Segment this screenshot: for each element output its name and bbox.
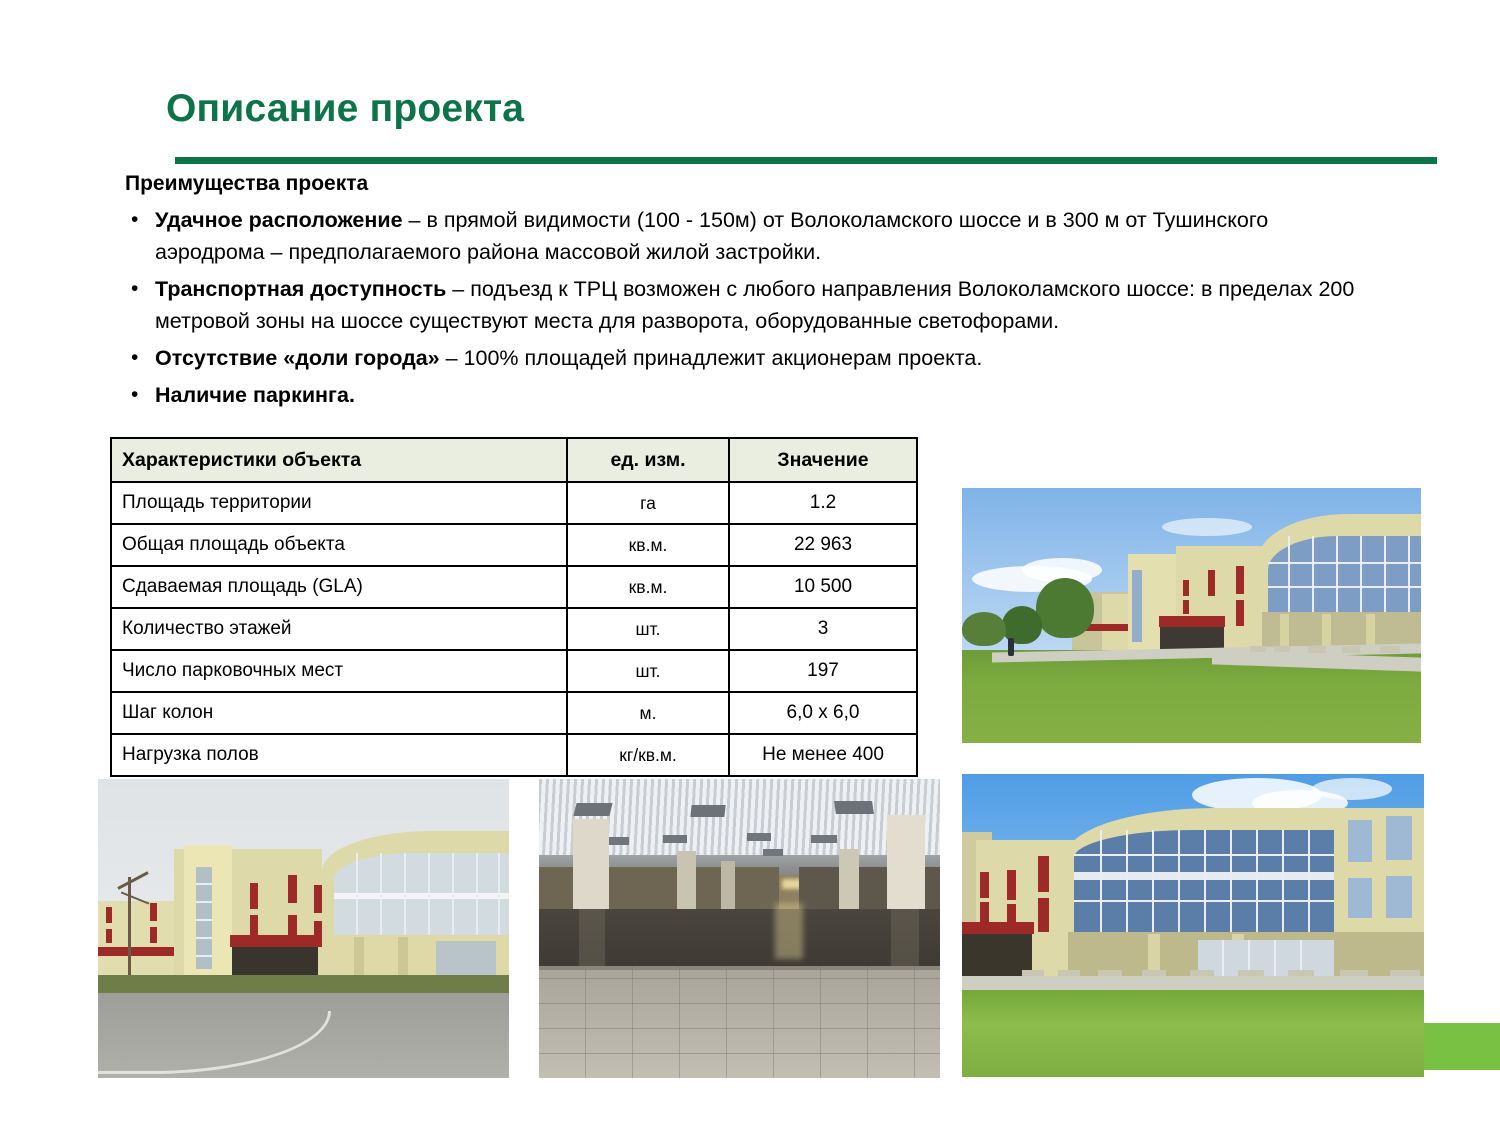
- table-row: Общая площадь объекта кв.м. 22 963: [111, 524, 917, 566]
- list-item: • Наличие паркинга.: [125, 379, 1355, 411]
- photo-interior-hall: [539, 779, 940, 1078]
- cell-value: 1.2: [729, 482, 917, 524]
- bullet-marker-icon: •: [125, 204, 155, 236]
- photo-exterior-front-summer: [962, 774, 1424, 1077]
- list-item: • Отсутствие «доли города» – 100% площад…: [125, 342, 1355, 374]
- cell-characteristic: Сдаваемая площадь (GLA): [111, 566, 567, 608]
- bullet-lead: Удачное расположение: [155, 208, 403, 232]
- cell-value: Не менее 400: [729, 734, 917, 776]
- slide-root: Описание проекта Преимущества проекта • …: [0, 0, 1500, 1125]
- cell-characteristic: Шаг колон: [111, 692, 567, 734]
- table-row: Число парковочных мест шт. 197: [111, 650, 917, 692]
- cell-unit: га: [567, 482, 729, 524]
- cell-unit: кв.м.: [567, 566, 729, 608]
- bullet-text: Отсутствие «доли города» – 100% площадей…: [155, 342, 1355, 374]
- cell-value: 22 963: [729, 524, 917, 566]
- title-underline-rule: [175, 157, 1437, 164]
- cell-value: 197: [729, 650, 917, 692]
- cell-unit: шт.: [567, 650, 729, 692]
- bullet-lead: Наличие паркинга.: [155, 383, 355, 407]
- bullet-lead: Транспортная доступность: [155, 277, 446, 301]
- cell-characteristic: Площадь территории: [111, 482, 567, 524]
- bullet-text: Наличие паркинга.: [155, 379, 1355, 411]
- table-row: Количество этажей шт. 3: [111, 608, 917, 650]
- cell-unit: кг/кв.м.: [567, 734, 729, 776]
- table-header-row: Характеристики объекта ед. изм. Значение: [111, 438, 917, 482]
- bullet-lead: Отсутствие «доли города»: [155, 346, 440, 370]
- cell-characteristic: Нагрузка полов: [111, 734, 567, 776]
- photo-exterior-side-summer: [962, 488, 1421, 743]
- cell-unit: кв.м.: [567, 524, 729, 566]
- section-subheading: Преимущества проекта: [125, 172, 368, 196]
- bullet-text: Транспортная доступность – подъезд к ТРЦ…: [155, 273, 1355, 337]
- accent-block: [1424, 1023, 1500, 1070]
- list-item: • Удачное расположение – в прямой видимо…: [125, 204, 1355, 268]
- column-header-value: Значение: [729, 438, 917, 482]
- page-title: Описание проекта: [166, 87, 524, 131]
- bullet-marker-icon: •: [125, 379, 155, 411]
- cell-characteristic: Количество этажей: [111, 608, 567, 650]
- cell-unit: м.: [567, 692, 729, 734]
- list-item: • Транспортная доступность – подъезд к Т…: [125, 273, 1355, 337]
- table-row: Сдаваемая площадь (GLA) кв.м. 10 500: [111, 566, 917, 608]
- bullet-text: Удачное расположение – в прямой видимост…: [155, 204, 1355, 268]
- cell-unit: шт.: [567, 608, 729, 650]
- table-row: Площадь территории га 1.2: [111, 482, 917, 524]
- object-specifications-table: Характеристики объекта ед. изм. Значение…: [110, 437, 918, 777]
- cell-value: 3: [729, 608, 917, 650]
- cell-value: 6,0 х 6,0: [729, 692, 917, 734]
- table-row: Нагрузка полов кг/кв.м. Не менее 400: [111, 734, 917, 776]
- cell-value: 10 500: [729, 566, 917, 608]
- advantages-bullet-list: • Удачное расположение – в прямой видимо…: [125, 204, 1355, 416]
- column-header-unit: ед. изм.: [567, 438, 729, 482]
- cell-characteristic: Число парковочных мест: [111, 650, 567, 692]
- bullet-marker-icon: •: [125, 273, 155, 305]
- column-header-characteristic: Характеристики объекта: [111, 438, 567, 482]
- bullet-rest: – 100% площадей принадлежит акционерам п…: [440, 346, 983, 370]
- table-row: Шаг колон м. 6,0 х 6,0: [111, 692, 917, 734]
- photo-exterior-side-spring: [98, 779, 509, 1078]
- cell-characteristic: Общая площадь объекта: [111, 524, 567, 566]
- bullet-marker-icon: •: [125, 342, 155, 374]
